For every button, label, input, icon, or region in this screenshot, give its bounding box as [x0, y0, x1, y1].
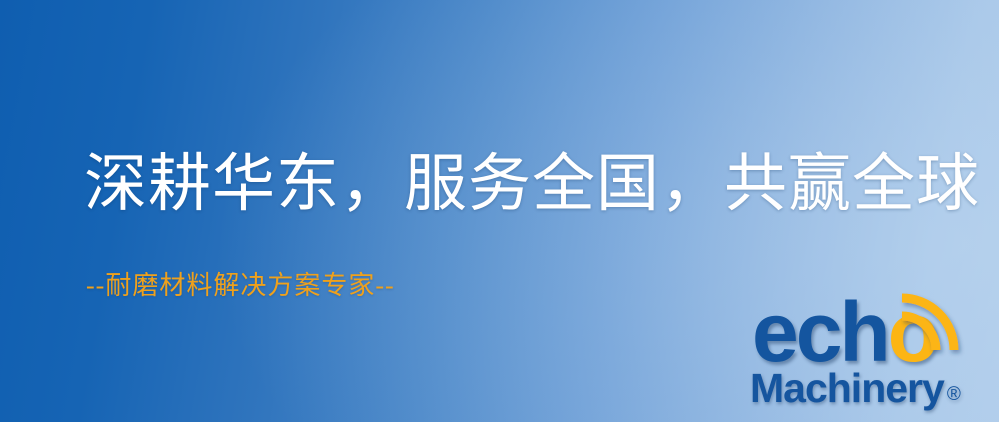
banner-subtitle: --耐磨材料解决方案专家--	[86, 265, 395, 302]
page-title: 深耕华东，服务全国，共赢全球	[84, 152, 980, 218]
echo-signal-waves-icon	[914, 294, 984, 356]
registered-trademark-icon: ®	[947, 384, 960, 405]
promo-banner: 深耕华东，服务全国，共赢全球 --耐磨材料解决方案专家-- echo	[0, 0, 999, 422]
company-logo[interactable]: echo Machinery®	[748, 296, 994, 418]
logo-wordmark: echo	[748, 296, 994, 368]
logo-tagline: Machinery®	[750, 368, 960, 409]
banner-content: 深耕华东，服务全国，共赢全球 --耐磨材料解决方案专家-- echo	[0, 0, 999, 422]
logo-tagline-text: Machinery	[750, 365, 944, 411]
